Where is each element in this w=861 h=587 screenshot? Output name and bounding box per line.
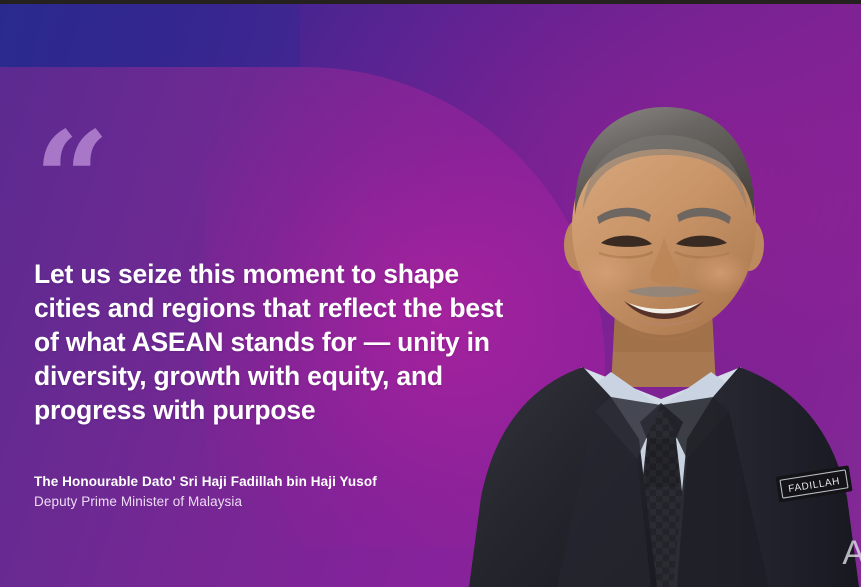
quote-mark-icon: “ (34, 140, 504, 230)
quote-content: “ Let us seize this moment to shape citi… (34, 140, 504, 512)
attribution-role: Deputy Prime Minister of Malaysia (34, 492, 504, 512)
corner-glyph: A (842, 534, 861, 573)
top-strip (0, 0, 861, 4)
attribution: The Honourable Dato' Sri Haji Fadillah b… (34, 472, 504, 513)
portrait-image: FADILLAH (461, 67, 861, 587)
quote-slide: FADILLAH A “ Let us seize this moment to… (0, 0, 861, 587)
quote-text: Let us seize this moment to shape cities… (34, 258, 504, 428)
attribution-name: The Honourable Dato' Sri Haji Fadillah b… (34, 472, 504, 492)
